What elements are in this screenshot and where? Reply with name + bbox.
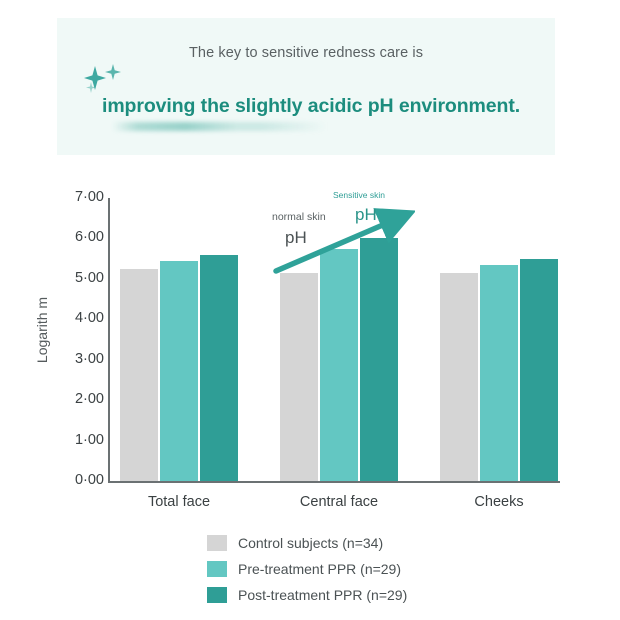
legend-item: Control subjects (n=34): [207, 531, 407, 555]
x-axis-line: [108, 481, 560, 483]
y-tick-label: 7·00: [52, 189, 104, 205]
legend-label: Pre-treatment PPR (n=29): [238, 561, 401, 577]
legend-swatch: [207, 587, 227, 603]
y-tick-label: 2·00: [52, 391, 104, 407]
y-tick-label: 4·00: [52, 310, 104, 326]
y-tick-label: 6·00: [52, 229, 104, 245]
bar: [280, 273, 318, 481]
chart-legend: Control subjects (n=34)Pre-treatment PPR…: [207, 531, 407, 609]
x-axis-group-label: Central face: [259, 494, 419, 510]
bar: [440, 273, 478, 481]
y-tick-label: 3·00: [52, 351, 104, 367]
bar: [480, 265, 518, 481]
legend-item: Pre-treatment PPR (n=29): [207, 557, 407, 581]
x-axis-group-label: Cheeks: [419, 494, 579, 510]
legend-item: Post-treatment PPR (n=29): [207, 583, 407, 607]
annotation-normal-skin-label: normal skin: [272, 211, 326, 223]
x-axis-group-label: Total face: [99, 494, 259, 510]
y-axis-line: [108, 198, 110, 483]
bar: [160, 261, 198, 481]
legend-swatch: [207, 535, 227, 551]
y-axis-title: Logarith m: [34, 270, 50, 390]
legend-swatch: [207, 561, 227, 577]
bar: [520, 259, 558, 481]
annotation-sensitive-skin-label: Sensitive skin: [333, 190, 385, 200]
y-tick-label: 5·00: [52, 270, 104, 286]
annotation-sensitive-skin-ph: pH: [355, 205, 377, 225]
legend-label: Control subjects (n=34): [238, 535, 383, 551]
legend-label: Post-treatment PPR (n=29): [238, 587, 407, 603]
y-tick-label: 1·00: [52, 432, 104, 448]
y-tick-label: 0·00: [52, 472, 104, 488]
annotation-normal-skin-ph: pH: [285, 228, 307, 248]
bar: [120, 269, 158, 481]
bar: [320, 249, 358, 481]
bar-chart: Logarith m 0·001·002·003·004·005·006·007…: [0, 0, 620, 620]
bar: [200, 255, 238, 481]
